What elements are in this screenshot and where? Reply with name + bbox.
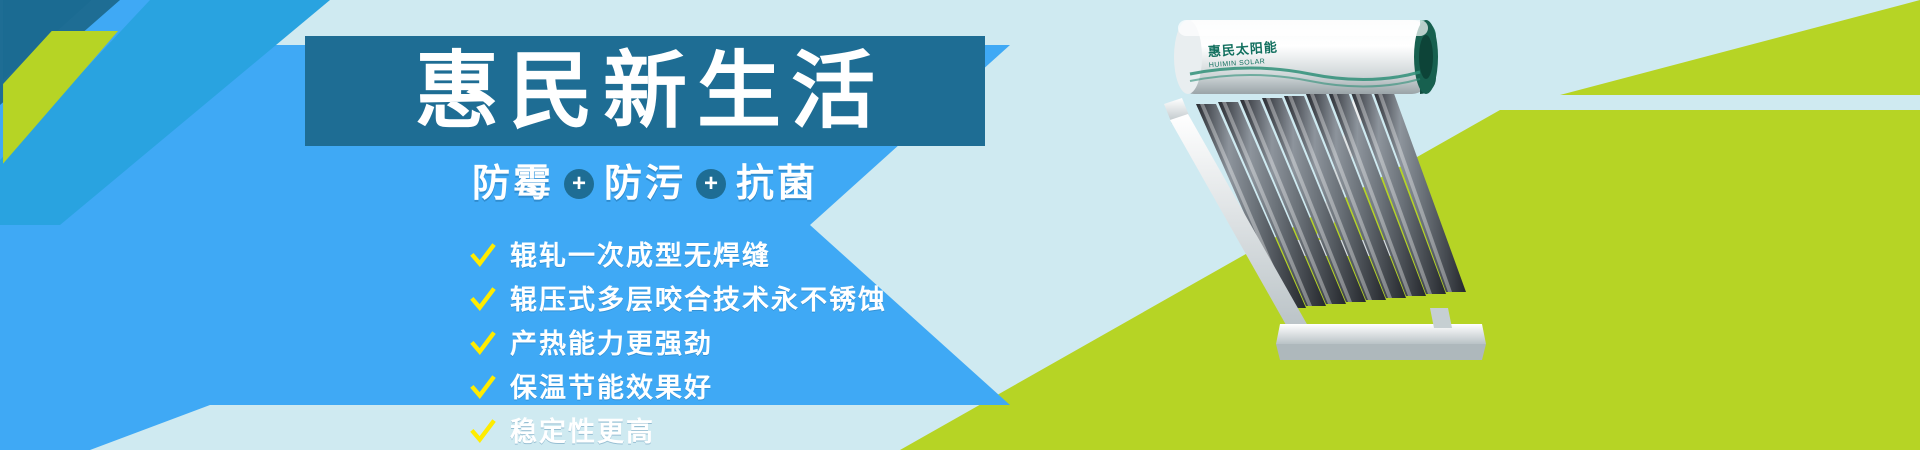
feature-label: 辊轧一次成型无焊缝 (510, 243, 771, 270)
subtitle-row: 防霉 + 防污 + 抗菌 (305, 165, 985, 203)
feature-item: 辊轧一次成型无焊缝 (470, 238, 887, 274)
subtitle-word-1: 防霉 (472, 165, 554, 203)
solar-water-heater-image (1130, 8, 1550, 428)
plus-icon-1: + (564, 169, 594, 199)
evacuated-tubes (1196, 88, 1466, 308)
subtitle-word-2: 防污 (604, 165, 686, 203)
check-icon (470, 331, 496, 357)
check-icon (470, 287, 496, 313)
subtitle-word-3: 抗菌 (736, 165, 818, 203)
feature-item: 产热能力更强劲 (470, 326, 887, 362)
feature-item: 辊压式多层咬合技术永不锈蚀 (470, 282, 887, 318)
feature-label: 产热能力更强劲 (510, 331, 713, 358)
plus-icon-2: + (696, 169, 726, 199)
page-title: 惠民新生活 (405, 49, 885, 133)
feature-list: 辊轧一次成型无焊缝 辊压式多层咬合技术永不锈蚀 产热能力更强劲 保温节能效果好 (470, 238, 887, 450)
feature-label: 辊压式多层咬合技术永不锈蚀 (510, 287, 887, 314)
feature-item: 稳定性更高 (470, 414, 887, 450)
feature-item: 保温节能效果好 (470, 370, 887, 406)
check-icon (470, 419, 496, 445)
storage-tank (1174, 20, 1438, 94)
feature-label: 保温节能效果好 (510, 375, 713, 402)
feature-label: 稳定性更高 (510, 419, 655, 446)
check-icon (470, 243, 496, 269)
title-box: 惠民新生活 (305, 36, 985, 146)
promo-banner: 惠民新生活 防霉 + 防污 + 抗菌 辊轧一次成型无焊缝 辊压式多层咬合技术永不… (0, 0, 1920, 450)
check-icon (470, 375, 496, 401)
